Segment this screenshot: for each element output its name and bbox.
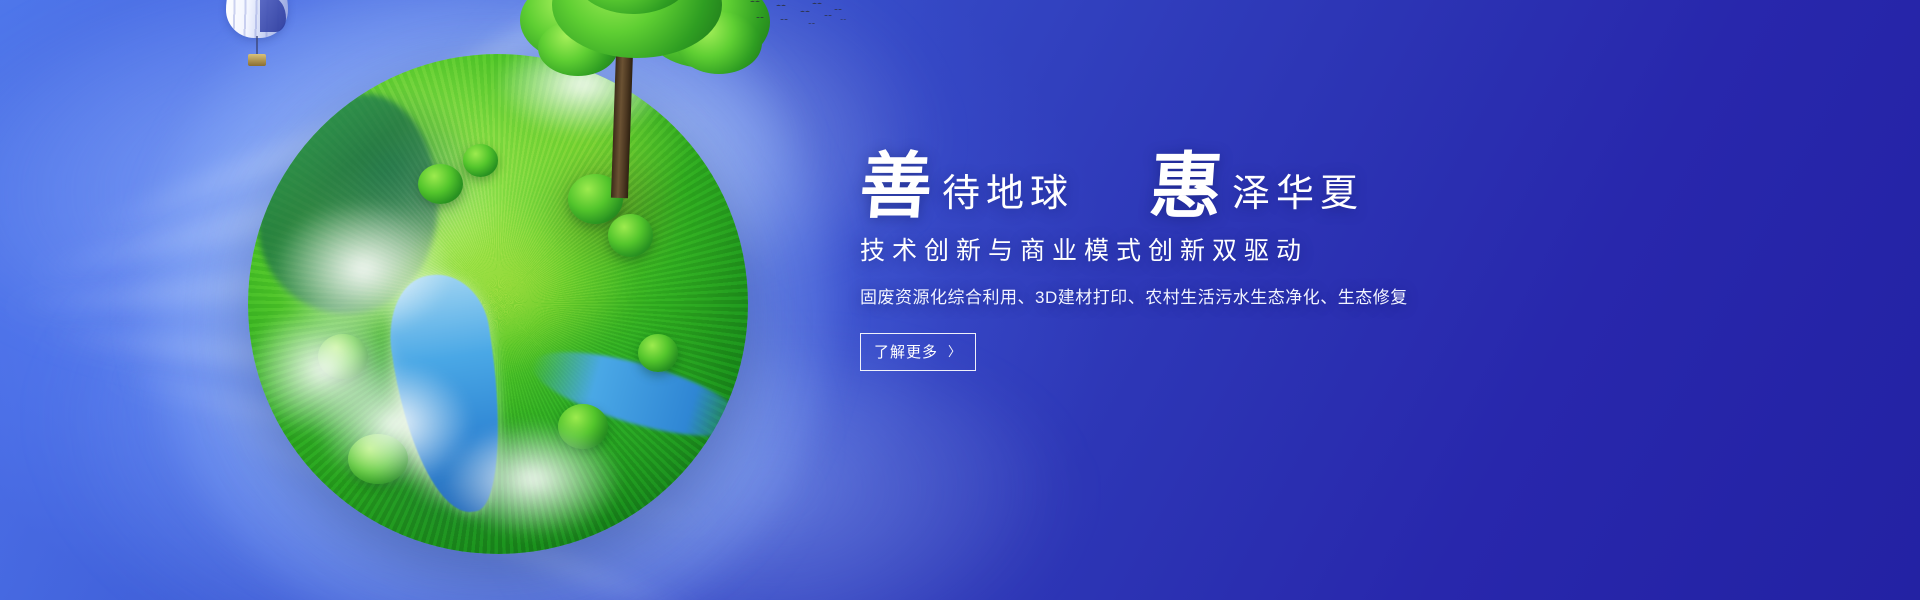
hot-air-balloon-icon <box>226 0 290 74</box>
tree-canopy <box>418 164 463 204</box>
tree-canopy <box>608 214 653 257</box>
globe-cloud <box>318 364 468 484</box>
balloon-accent <box>260 0 286 32</box>
tree-canopy <box>638 334 678 372</box>
balloon-envelope <box>226 0 288 38</box>
banner-copy: 善 待地球 惠 泽华夏 技术创新与商业模式创新双驱动 固废资源化综合利用、3D建… <box>860 128 1560 371</box>
chevron-right-icon: 〉 <box>948 345 962 358</box>
tiny-planet-artwork <box>130 0 850 600</box>
learn-more-label: 了解更多 <box>874 341 938 362</box>
bird-flock-icon <box>720 0 850 32</box>
balloon-rope <box>256 36 258 56</box>
page-title: 善 待地球 惠 泽华夏 <box>860 128 1560 220</box>
headline-accent-1: 善 <box>858 152 935 220</box>
learn-more-button[interactable]: 了解更多 〉 <box>860 333 976 371</box>
headline-phrase-1: 善 待地球 <box>860 152 1074 220</box>
banner-subtitle: 技术创新与商业模式创新双驱动 <box>860 234 1560 269</box>
headline-accent-2: 惠 <box>1148 152 1225 220</box>
banner-description: 固废资源化综合利用、3D建材打印、农村生活污水生态净化、生态修复 <box>860 285 1560 311</box>
globe-cloud <box>448 424 618 534</box>
headline-rest-2: 泽华夏 <box>1232 174 1364 220</box>
balloon-basket <box>248 54 266 66</box>
hero-banner: 善 待地球 惠 泽华夏 技术创新与商业模式创新双驱动 固废资源化综合利用、3D建… <box>0 0 1920 600</box>
headline-phrase-2: 惠 泽华夏 <box>1150 152 1364 220</box>
headline-rest-1: 待地球 <box>942 174 1074 220</box>
